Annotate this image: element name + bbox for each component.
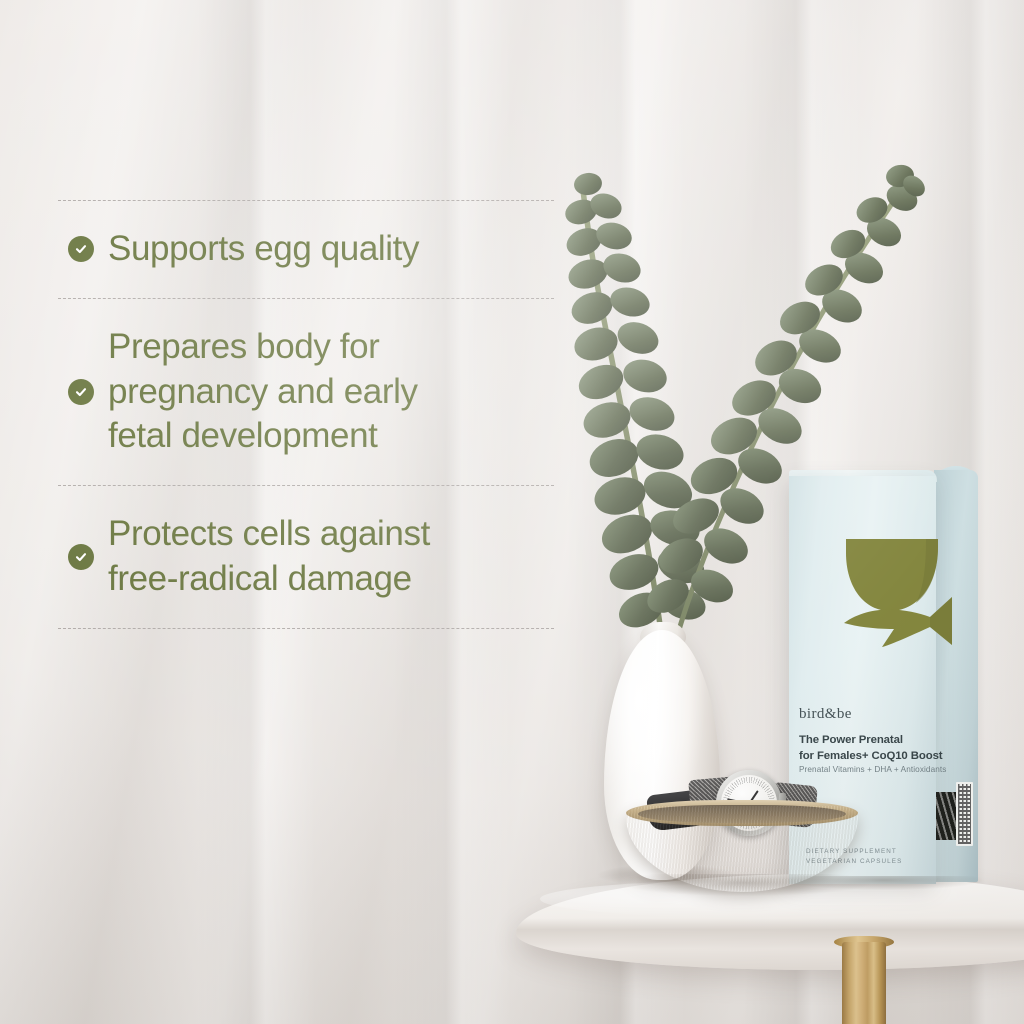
check-circle-icon	[68, 544, 94, 570]
benefit-item-3: Protects cells against free-radical dama…	[58, 486, 554, 628]
bowl-wood-texture	[626, 806, 858, 892]
wooden-bowl	[626, 806, 858, 892]
benefit-divider	[58, 485, 554, 486]
benefit-divider	[58, 200, 554, 201]
benefit-item-1: Supports egg quality	[58, 201, 554, 298]
qr-code-label	[956, 782, 973, 846]
benefit-divider	[58, 298, 554, 299]
brass-table-leg	[842, 942, 886, 1024]
product-subtitle: Prenatal Vitamins + DHA + Antioxidants	[799, 765, 949, 774]
benefit-text: Supports egg quality	[108, 227, 419, 272]
benefit-divider	[58, 628, 554, 629]
benefit-text: Prepares body for pregnancy and early fe…	[108, 325, 418, 459]
bird-on-branch-logo-icon	[834, 525, 962, 655]
product-brand-name: bird&be	[799, 706, 852, 723]
sachet-edge	[934, 792, 956, 840]
product-title: The Power Prenatal for Females+ CoQ10 Bo…	[799, 733, 949, 764]
check-circle-icon	[68, 236, 94, 262]
check-circle-icon	[68, 379, 94, 405]
benefit-text: Protects cells against free-radical dama…	[108, 512, 430, 602]
benefits-list: Supports egg quality Prepares body for p…	[58, 200, 554, 629]
product-lifestyle-image: bird&be The Power Prenatal for Females+ …	[0, 0, 1024, 1024]
benefit-item-2: Prepares body for pregnancy and early fe…	[58, 299, 554, 485]
